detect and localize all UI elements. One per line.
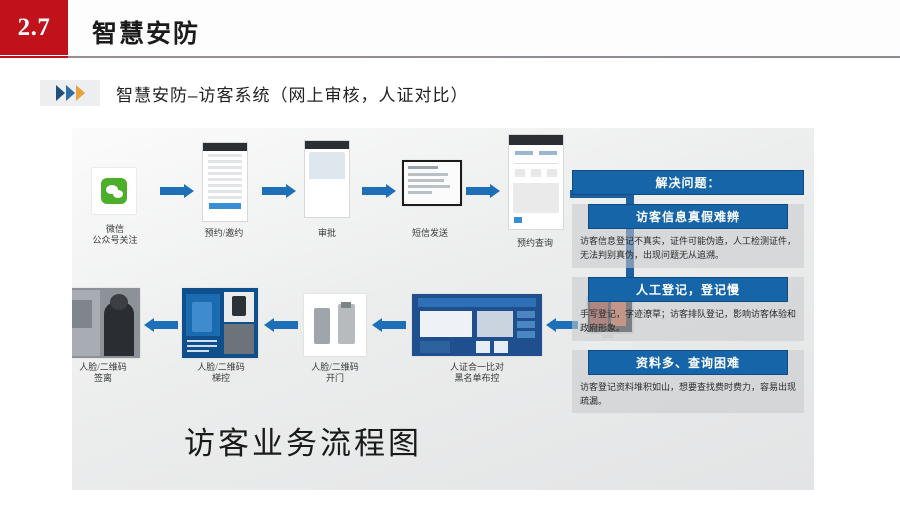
section-number-badge: 2.7 <box>0 0 68 55</box>
phone-list-screen <box>202 142 248 222</box>
arrow-left-icon <box>144 318 178 332</box>
solution-title: 资料多、查询困难 <box>588 350 788 375</box>
solution-item: 资料多、查询困难 访客登记资料堆积如山，想要查找费时费力，容易出现疏漏。 <box>572 350 804 414</box>
elevator-control-photo <box>182 288 258 358</box>
arrow-right-icon <box>160 184 194 198</box>
turnstile-gate-photo <box>304 294 366 356</box>
wechat-icon <box>92 168 136 214</box>
flow-label-wechat: 微信 公众号关注 <box>74 224 156 247</box>
arrow-right-icon <box>262 184 296 198</box>
visitor-flow-diagram: 微信 公众号关注 预约/邀约 审批 短信发送 <box>72 128 814 490</box>
solutions-heading: 解决问题： <box>572 170 804 195</box>
solution-item: 人工登记，登记慢 手写登记，字迹潦草；访客排队登记，影响访客体验和政府形象。 <box>572 277 804 341</box>
solution-title: 人工登记，登记慢 <box>588 277 788 302</box>
id-verification-terminal <box>412 294 542 356</box>
flow-label-sms: 短信发送 <box>398 228 462 239</box>
solution-body: 访客信息登记不真实，证件可能伪造，人工检测证件，无法判别真伪，出现问题无从追溯。 <box>572 229 804 263</box>
flow-label-approval: 审批 <box>296 228 358 239</box>
face-checkout-photo <box>72 288 140 358</box>
flow-label-elevator: 人脸/二维码 梯控 <box>178 362 264 385</box>
page-title: 智慧安防 <box>92 14 200 50</box>
header-divider <box>0 56 900 58</box>
flow-label-query: 预约查询 <box>502 238 568 249</box>
solutions-panel: 解决问题： 访客信息真假难辨 访客信息登记不真实，证件可能伪造，人工检测证件，无… <box>572 170 804 413</box>
arrow-right-icon <box>466 184 500 198</box>
phone-approval-screen <box>304 140 350 218</box>
triple-chevron-icon <box>40 80 100 106</box>
slide-header: 2.7 智慧安防 <box>0 0 900 58</box>
chevron-right-icon <box>76 85 85 101</box>
solution-item: 访客信息真假难辨 访客信息登记不真实，证件可能伪造，人工检测证件，无法判别真伪，… <box>572 204 804 268</box>
flow-label-door-open: 人脸/二维码 开门 <box>300 362 370 385</box>
sms-message-card <box>402 160 462 206</box>
arrow-right-icon <box>362 184 396 198</box>
subtitle-label: 智慧安防–访客系统（网上审核，人证对比） <box>116 81 468 106</box>
arrow-left-icon <box>264 318 298 332</box>
solution-title: 访客信息真假难辨 <box>588 204 788 229</box>
section-number: 2.7 <box>18 14 51 42</box>
diagram-title: 访客业务流程图 <box>184 418 422 463</box>
phone-query-screen <box>508 134 564 230</box>
subtitle-row: 智慧安防–访客系统（网上审核，人证对比） <box>40 78 468 108</box>
solution-body: 手写登记，字迹潦草；访客排队登记，影响访客体验和政府形象。 <box>572 302 804 336</box>
solution-body: 访客登记资料堆积如山，想要查找费时费力，容易出现疏漏。 <box>572 375 804 409</box>
chevron-right-icon <box>66 85 75 101</box>
flow-label-checkout: 人脸/二维码 签离 <box>72 362 146 385</box>
flow-label-booking: 预约/邀约 <box>190 228 258 239</box>
arrow-left-icon <box>372 318 406 332</box>
flow-label-id-verification: 人证合一比对 黑名单布控 <box>410 362 544 385</box>
chevron-right-icon <box>56 85 65 101</box>
